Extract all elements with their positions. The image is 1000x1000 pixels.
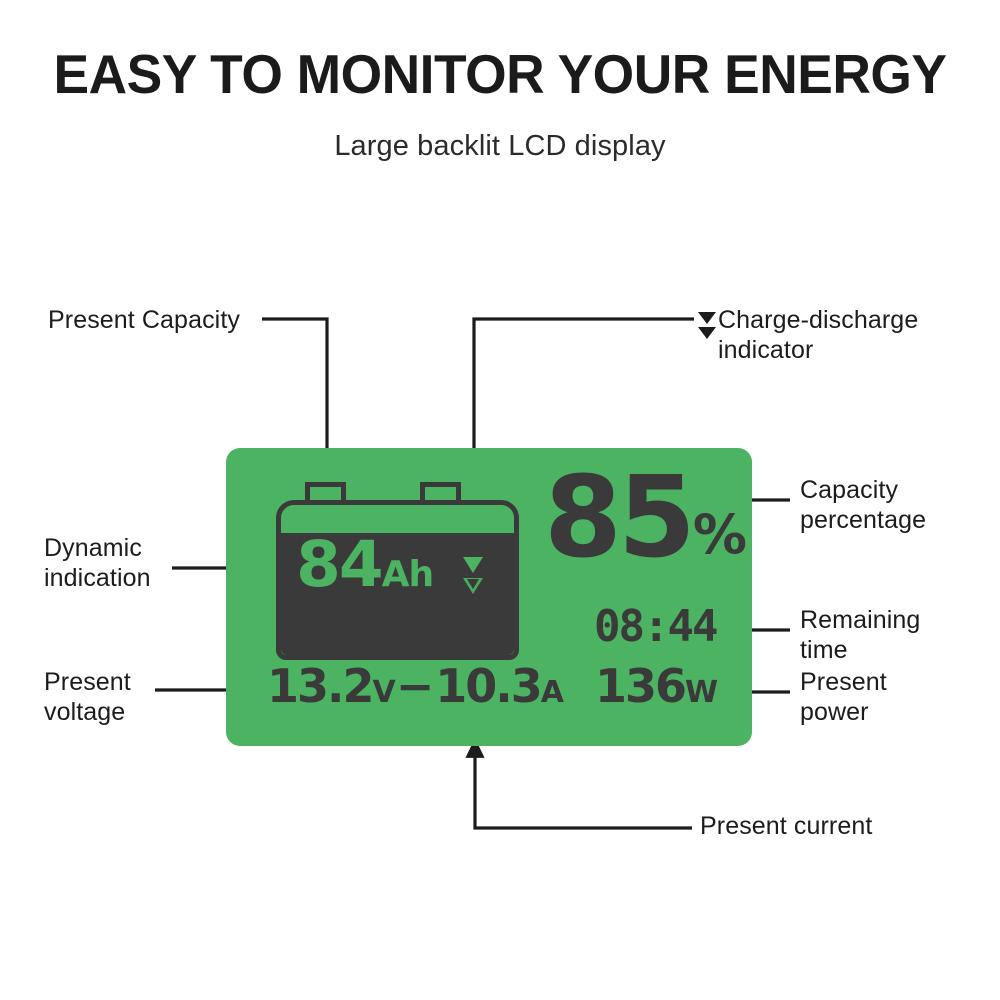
present-voltage-value: 13.2 xyxy=(267,663,373,709)
callout-present-current: Present current xyxy=(700,812,872,842)
callout-dynamic-indication: Dynamic indication xyxy=(44,534,214,593)
voltage-unit: V xyxy=(373,678,395,708)
capacity-percentage-readout: 85 % xyxy=(544,470,747,566)
callout-line-2: power xyxy=(800,698,970,728)
page-subtitle: Large backlit LCD display xyxy=(0,130,1000,163)
callout-line-2: percentage xyxy=(800,506,970,536)
triangle-down-solid-icon xyxy=(463,557,483,573)
battery-body: 84 Ah xyxy=(276,500,519,660)
present-capacity-value: 84 xyxy=(296,537,381,594)
callout-line-1: Remaining xyxy=(800,606,970,636)
present-capacity-unit: Ah xyxy=(382,554,434,595)
present-current-value: 10.3 xyxy=(435,663,541,709)
triangle-down-icon xyxy=(698,327,716,339)
callout-line-1: Charge-discharge xyxy=(718,306,958,336)
capacity-percentage-value: 85 xyxy=(544,470,692,566)
battery-icon: 84 Ah xyxy=(276,482,519,660)
callout-line-1: Present xyxy=(44,668,204,698)
callout-present-power: Present power xyxy=(800,668,970,727)
callout-line-2: voltage xyxy=(44,698,204,728)
callout-capacity-percentage: Capacity percentage xyxy=(800,476,970,535)
present-power-value: 136 xyxy=(595,663,685,709)
remaining-time-readout: 08:44 xyxy=(594,605,716,649)
callout-remaining-time: Remaining time xyxy=(800,606,970,665)
double-down-triangle-icon xyxy=(698,312,716,344)
triangle-down-icon xyxy=(698,312,716,324)
current-unit: A xyxy=(541,678,563,708)
callout-line-1: Dynamic xyxy=(44,534,214,564)
triangle-down-hollow-icon xyxy=(463,578,483,594)
callout-charge-discharge-indicator: Charge-discharge indicator xyxy=(718,306,958,365)
lcd-display-panel: 84 Ah 85 % 08:44 13.2 V − 10.3 A 136 W xyxy=(226,448,752,746)
present-power-readout: 136 W xyxy=(595,663,717,709)
callout-present-voltage: Present voltage xyxy=(44,668,204,727)
percent-symbol: % xyxy=(693,508,747,562)
callout-line-1: Capacity xyxy=(800,476,970,506)
callout-line-1: Present xyxy=(800,668,970,698)
power-unit: W xyxy=(685,678,717,708)
double-down-triangle-icon xyxy=(463,557,483,599)
page-title: EASY TO MONITOR YOUR ENERGY xyxy=(15,46,985,104)
callout-line-2: indication xyxy=(44,564,214,594)
callout-present-capacity: Present Capacity xyxy=(48,306,240,336)
voltage-current-readout: 13.2 V − 10.3 A xyxy=(267,663,563,709)
callout-line-2: time xyxy=(800,636,970,666)
voltage-current-separator: − xyxy=(396,663,435,709)
callout-line-2: indicator xyxy=(718,336,958,366)
